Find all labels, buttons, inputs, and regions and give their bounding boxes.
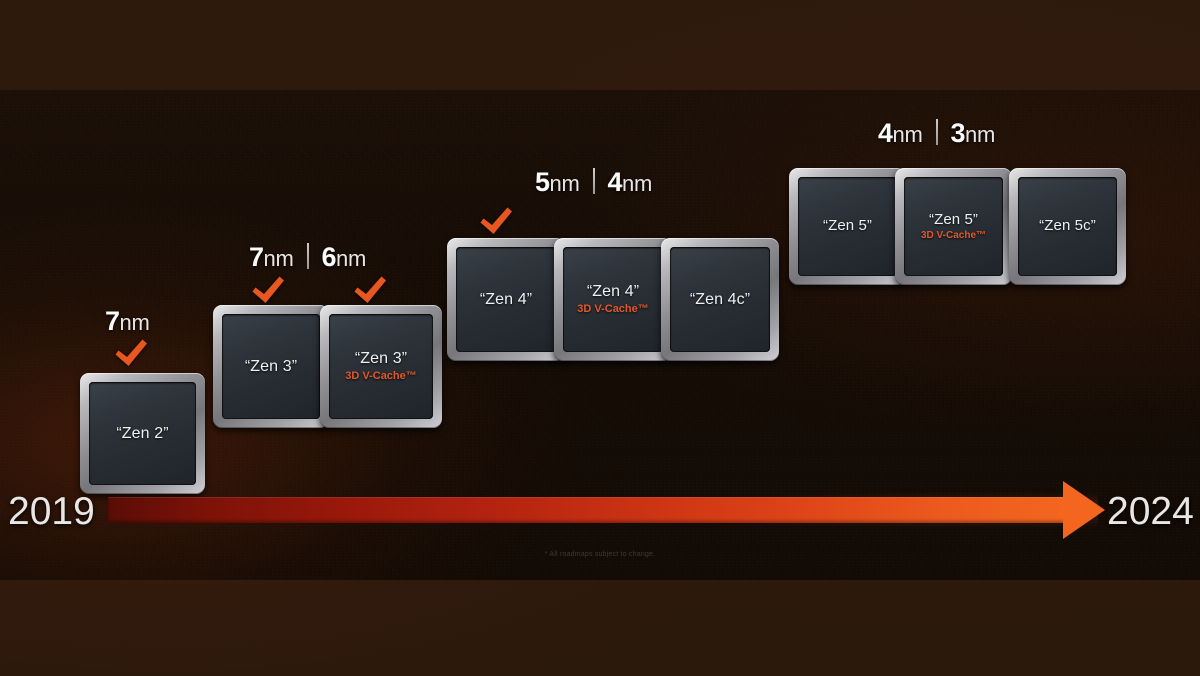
node-label-zen4: 5nm 4nm	[535, 167, 652, 198]
checkmark-icon-zen2	[113, 338, 149, 368]
node-separator	[307, 243, 309, 269]
footnote: * All roadmaps subject to change.	[0, 551, 1200, 558]
chip-zen3[interactable]: “Zen 3”	[213, 305, 329, 428]
chip-label: “Zen 4”	[587, 283, 639, 301]
chip-zen5-vcache[interactable]: “Zen 5” 3D V-Cache™	[895, 168, 1012, 285]
checkmark-icon-zen3-vcache	[352, 275, 388, 305]
arrow-right-icon	[1063, 481, 1105, 539]
chip-zen4-vcache[interactable]: “Zen 4” 3D V-Cache™	[554, 238, 672, 361]
node-unit: nm	[893, 122, 923, 148]
chip-zen4[interactable]: “Zen 4”	[447, 238, 565, 361]
checkmark-icon-zen3	[250, 275, 286, 305]
chip-sublabel: 3D V-Cache™	[345, 370, 417, 382]
node-number: 4	[878, 118, 893, 149]
chip-sublabel: 3D V-Cache™	[577, 303, 649, 315]
chip-die: “Zen 3” 3D V-Cache™	[329, 314, 433, 419]
chip-label: “Zen 5”	[823, 218, 872, 235]
node-number: 5	[535, 167, 550, 198]
chip-label: “Zen 5”	[929, 212, 978, 229]
node-label-zen5: 4nm 3nm	[878, 118, 995, 149]
chip-zen4c[interactable]: “Zen 4c”	[661, 238, 779, 361]
node-number: 4	[608, 167, 623, 198]
node-unit: nm	[120, 310, 150, 336]
node-separator	[593, 168, 595, 194]
chip-label: “Zen 3”	[245, 358, 297, 376]
chip-label: “Zen 4”	[480, 291, 532, 309]
node-label-zen2: 7nm	[105, 306, 150, 337]
node-unit: nm	[622, 171, 652, 197]
amd-zen-roadmap-slide: 7nm “Zen 2” 7nm 6nm “Zen 3” “Zen 3” 3D V…	[0, 0, 1200, 676]
node-number: 7	[105, 306, 120, 337]
chip-zen5c[interactable]: “Zen 5c”	[1009, 168, 1126, 285]
node-separator	[936, 119, 938, 145]
node-number: 3	[951, 118, 966, 149]
chip-die: “Zen 5”	[798, 177, 897, 276]
chip-label: “Zen 3”	[355, 350, 407, 368]
chip-zen5[interactable]: “Zen 5”	[789, 168, 906, 285]
chip-zen2[interactable]: “Zen 2”	[80, 373, 205, 494]
chip-die: “Zen 3”	[222, 314, 320, 419]
node-unit: nm	[264, 246, 294, 272]
chip-die: “Zen 4” 3D V-Cache™	[563, 247, 663, 352]
chip-die: “Zen 5” 3D V-Cache™	[904, 177, 1003, 276]
node-number: 7	[249, 242, 264, 273]
checkmark-icon-zen4	[478, 206, 514, 236]
chip-sublabel: 3D V-Cache™	[921, 230, 986, 241]
node-unit: nm	[550, 171, 580, 197]
chip-die: “Zen 4”	[456, 247, 556, 352]
chip-label: “Zen 4c”	[690, 291, 750, 309]
timeline-start-year: 2019	[8, 490, 95, 534]
node-unit: nm	[336, 246, 366, 272]
chip-die: “Zen 4c”	[670, 247, 770, 352]
chip-zen3-vcache[interactable]: “Zen 3” 3D V-Cache™	[320, 305, 442, 428]
chip-die: “Zen 2”	[89, 382, 196, 485]
chip-die: “Zen 5c”	[1018, 177, 1117, 276]
node-unit: nm	[965, 122, 995, 148]
timeline-bar	[108, 497, 1068, 523]
node-number: 6	[322, 242, 337, 273]
chip-label: “Zen 5c”	[1039, 218, 1096, 235]
timeline-end-year: 2024	[1107, 490, 1194, 534]
node-label-zen3: 7nm 6nm	[249, 242, 366, 273]
chip-label: “Zen 2”	[116, 425, 168, 443]
